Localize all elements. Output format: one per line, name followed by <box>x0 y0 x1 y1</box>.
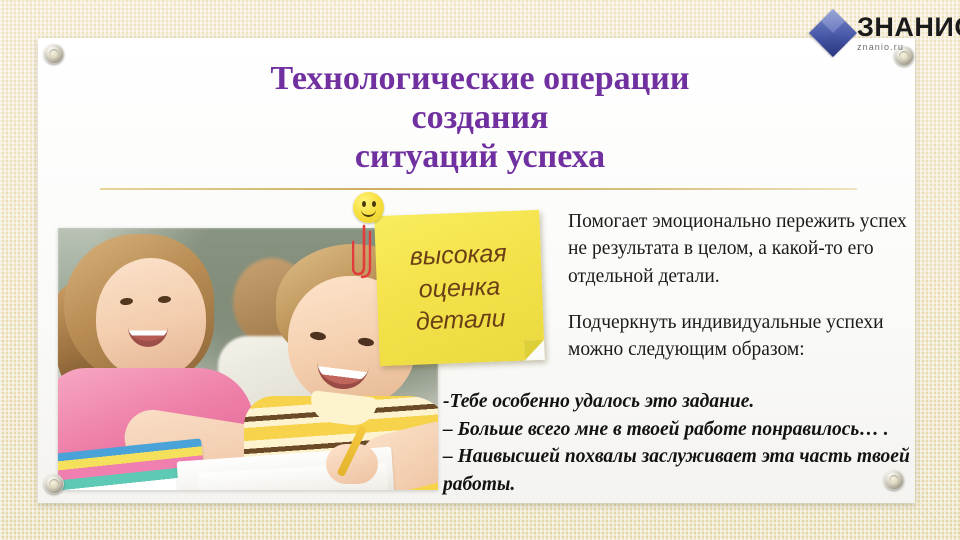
quote-line-1: -Тебе особенно удалось это задание. <box>443 388 923 416</box>
title-line-3: ситуаций успеха <box>100 138 860 177</box>
logo-text-wrap: ЗНАНИО znanio.ru <box>857 14 960 52</box>
rivet-top-left-icon <box>44 44 64 64</box>
title-line-2: создания <box>100 99 860 138</box>
quote-text-block: -Тебе особенно удалось это задание. – Бо… <box>443 388 923 499</box>
znanio-logo[interactable]: ЗНАНИО znanio.ru <box>816 14 960 52</box>
paperclip-icon <box>352 222 376 280</box>
sticky-note: высокая оценка детали <box>374 210 545 366</box>
title-line-1: Технологические операции <box>100 60 860 99</box>
logo-subtitle: znanio.ru <box>857 43 960 52</box>
smiley-face-icon <box>353 192 384 223</box>
body-text-block: Помогает эмоционально пережить успех не … <box>568 208 920 382</box>
title-divider <box>100 188 857 190</box>
body-paragraph-2: Подчеркнуть индивидуальные успехи можно … <box>568 309 920 364</box>
photo-girl-face <box>96 258 206 378</box>
logo-name: ЗНАНИО <box>857 14 960 41</box>
quote-line-2: – Больше всего мне в твоей работе понрав… <box>443 416 923 444</box>
rivet-bottom-right-icon <box>884 470 904 490</box>
sticky-note-line-3: детали <box>378 301 544 340</box>
slide-title: Технологические операции создания ситуац… <box>100 60 860 176</box>
rivet-bottom-left-icon <box>44 474 64 494</box>
diamond-icon <box>809 9 857 57</box>
smiley-mouth <box>361 206 376 217</box>
body-paragraph-1: Помогает эмоционально пережить успех не … <box>568 208 920 290</box>
quote-line-3: – Наивысшей похвалы заслуживает эта част… <box>443 443 923 498</box>
